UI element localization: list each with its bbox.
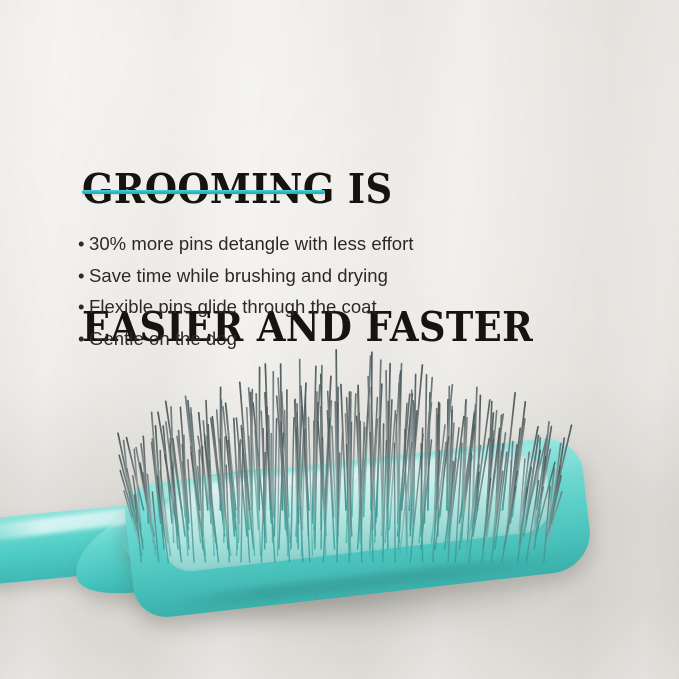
list-item-label: Flexible pins glide through the coat [89, 291, 377, 323]
bullet-marker-icon: • [78, 228, 89, 260]
bullet-marker-icon: • [78, 323, 89, 355]
product-feature-panel: GROOMING IS EASIER AND FASTER • 30% more… [0, 0, 679, 679]
bullet-marker-icon: • [78, 260, 89, 292]
list-item: • Gentle on the dog [78, 323, 618, 355]
accent-divider [82, 190, 325, 194]
list-item: • Save time while brushing and drying [78, 260, 618, 292]
list-item: • Flexible pins glide through the coat [78, 291, 618, 323]
brush-pins-svg [120, 360, 590, 575]
list-item-label: 30% more pins detangle with less effort [89, 228, 414, 260]
product-image [0, 360, 679, 679]
feature-bullet-list: • 30% more pins detangle with less effor… [78, 228, 618, 354]
list-item-label: Gentle on the dog [89, 323, 237, 355]
list-item-label: Save time while brushing and drying [89, 260, 388, 292]
headline-line-1: GROOMING IS [82, 166, 550, 212]
bullet-marker-icon: • [78, 291, 89, 323]
brush-pins [120, 360, 590, 575]
list-item: • 30% more pins detangle with less effor… [78, 228, 618, 260]
